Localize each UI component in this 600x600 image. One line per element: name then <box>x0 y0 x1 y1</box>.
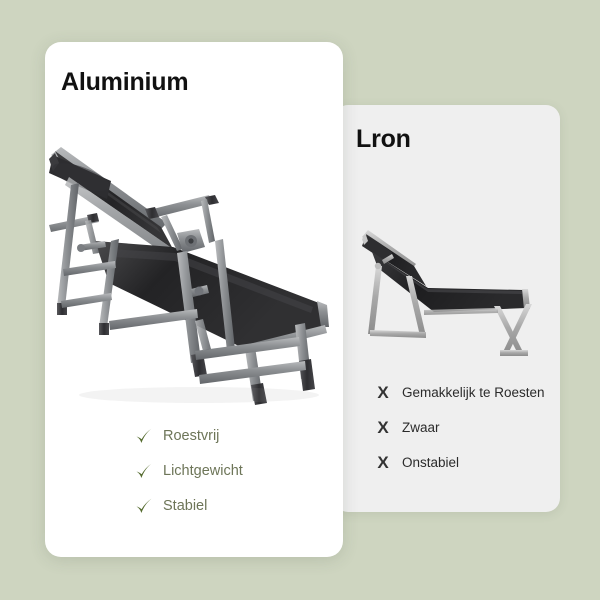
check-icon <box>133 495 155 517</box>
comparison-stage: Lron <box>0 0 600 600</box>
feature-label: Lichtgewicht <box>163 463 243 479</box>
feature-label: Gemakkelijk te Roesten <box>402 385 545 400</box>
aluminium-card-title: Aluminium <box>61 68 188 97</box>
feature-label: Zwaar <box>402 420 440 435</box>
x-icon: X <box>372 417 394 439</box>
x-icon: X <box>372 382 394 404</box>
list-item: Lichtgewicht <box>133 453 333 488</box>
iron-card-title: Lron <box>356 125 411 154</box>
iron-feature-list: X Gemakkelijk te Roesten X Zwaar X Onsta… <box>372 375 562 480</box>
feature-label: Onstabiel <box>402 455 459 470</box>
list-item: X Zwaar <box>372 410 562 445</box>
aluminium-lounger-image <box>49 137 339 407</box>
aluminium-card: Aluminium <box>45 42 343 557</box>
list-item: X Onstabiel <box>372 445 562 480</box>
feature-label: Roestvrij <box>163 428 219 444</box>
x-icon: X <box>372 452 394 474</box>
check-icon <box>133 425 155 447</box>
iron-lounger-image <box>348 190 553 370</box>
check-icon <box>133 460 155 482</box>
list-item: Stabiel <box>133 488 333 523</box>
list-item: Roestvrij <box>133 418 333 453</box>
list-item: X Gemakkelijk te Roesten <box>372 375 562 410</box>
iron-card: Lron <box>334 105 560 512</box>
feature-label: Stabiel <box>163 498 207 514</box>
aluminium-feature-list: Roestvrij Lichtgewicht Stabiel <box>133 418 333 523</box>
